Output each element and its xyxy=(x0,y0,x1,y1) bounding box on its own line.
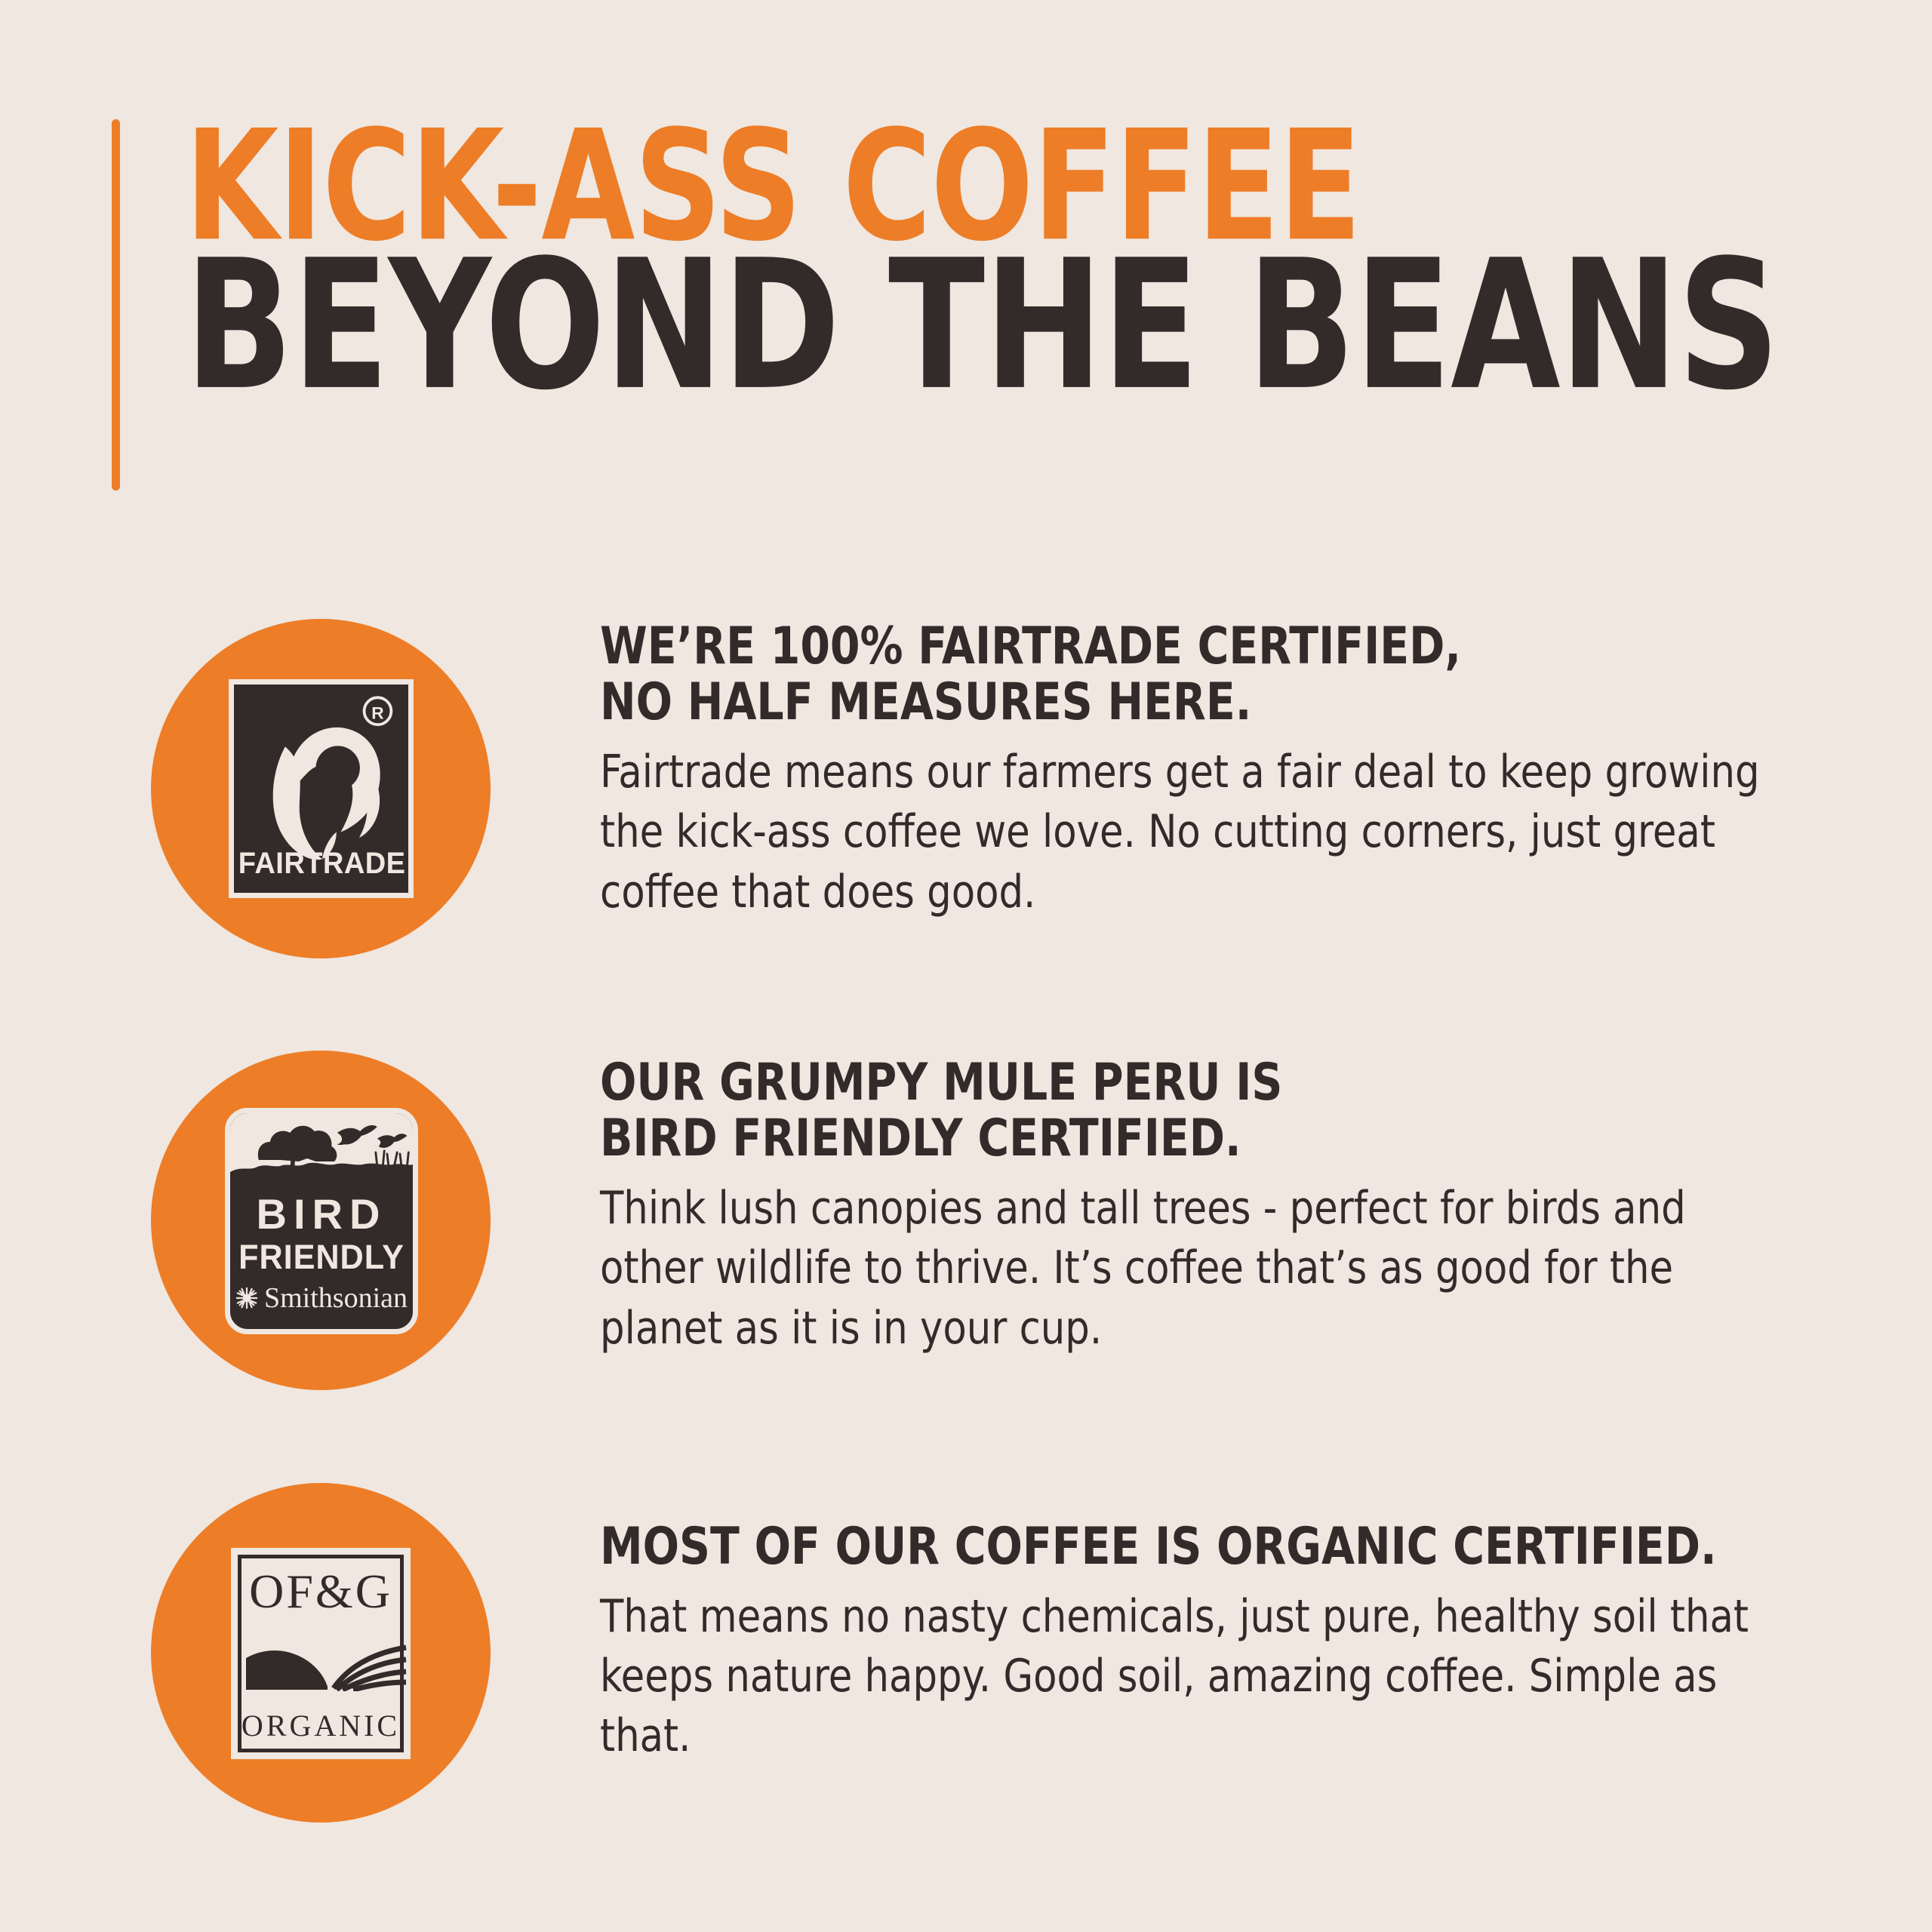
organic-heading: MOST OF OUR COFFEE IS ORGANIC CERTIFIED. xyxy=(600,1519,1737,1575)
smithsonian-attribution: Smithsonian xyxy=(230,1284,413,1312)
svg-text:R: R xyxy=(371,704,383,723)
fairtrade-logo: R FAIRTRADE xyxy=(229,679,414,898)
organic-body: That means no nasty chemicals, just pure… xyxy=(600,1587,1761,1767)
bird-friendly-heading: OUR GRUMPY MULE PERU IS BIRD FRIENDLY CE… xyxy=(600,1055,1737,1167)
bird-habitat-scene-icon xyxy=(230,1113,413,1195)
fairtrade-copy: WE’RE 100% FAIRTRADE CERTIFIED, NO HALF … xyxy=(600,619,1823,922)
title-group: KICK-ASS COFFEE BEYOND THE BEANS xyxy=(185,113,1845,408)
smithsonian-label: Smithsonian xyxy=(264,1284,408,1312)
fairtrade-heading: WE’RE 100% FAIRTRADE CERTIFIED, NO HALF … xyxy=(600,619,1737,731)
ofg-title: OF&G xyxy=(231,1567,411,1616)
fairtrade-wordmark: FAIRTRADE xyxy=(238,847,404,881)
sunburst-icon xyxy=(235,1287,258,1309)
organic-badge-circle: OF&G ORGANIC xyxy=(151,1483,491,1823)
fairtrade-badge-circle: R FAIRTRADE xyxy=(151,619,491,958)
bird-friendly-logo: BIRD FRIENDLY xyxy=(225,1108,418,1334)
ofg-subtitle: ORGANIC xyxy=(231,1711,411,1741)
accent-bar xyxy=(112,119,120,491)
organic-copy: MOST OF OUR COFFEE IS ORGANIC CERTIFIED.… xyxy=(600,1519,1823,1767)
bird-friendly-line-1: BIRD xyxy=(230,1193,413,1235)
field-furrows-icon xyxy=(243,1631,411,1691)
bird-friendly-badge-circle: BIRD FRIENDLY xyxy=(151,1051,491,1390)
bird-friendly-body: Think lush canopies and tall trees - per… xyxy=(600,1179,1761,1358)
infographic-page: KICK-ASS COFFEE BEYOND THE BEANS R xyxy=(0,0,1932,1932)
fairtrade-body: Fairtrade means our farmers get a fair d… xyxy=(600,743,1761,922)
bird-friendly-copy: OUR GRUMPY MULE PERU IS BIRD FRIENDLY CE… xyxy=(600,1055,1823,1358)
bird-friendly-line-2: FRIENDLY xyxy=(234,1240,409,1274)
page-title-line-2: BEYOND THE BEANS xyxy=(185,240,1679,411)
page-header: KICK-ASS COFFEE BEYOND THE BEANS xyxy=(112,113,1847,506)
ofg-organic-logo: OF&G ORGANIC xyxy=(226,1543,415,1764)
